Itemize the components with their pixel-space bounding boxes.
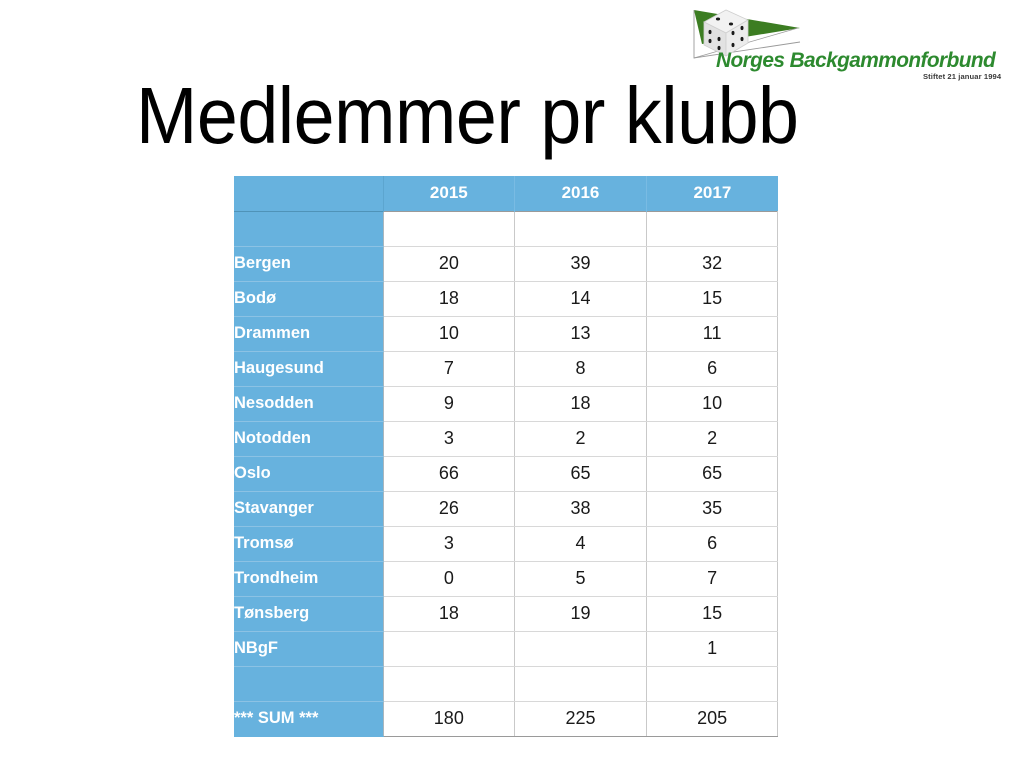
cell-value: 1 [646,631,778,666]
cell-value: 6 [646,351,778,386]
cell-value: 39 [515,246,647,281]
cell-value: 3 [383,421,515,456]
cell-value: 4 [515,526,647,561]
row-label: NBgF [234,631,383,666]
cell-value: 180 [383,701,515,736]
table-row: Notodden322 [234,421,778,456]
table-row: Tønsberg181915 [234,596,778,631]
table-row: Tromsø346 [234,526,778,561]
row-label: Notodden [234,421,383,456]
table-row: Oslo666565 [234,456,778,491]
row-label: Tromsø [234,526,383,561]
table-header: 2015 2016 2017 [234,176,778,211]
column-header-2016: 2016 [515,176,647,211]
cell-value: 10 [646,386,778,421]
row-label: Haugesund [234,351,383,386]
cell-value: 0 [383,561,515,596]
cell-value: 13 [515,316,647,351]
cell-value: 26 [383,491,515,526]
table-row: NBgF1 [234,631,778,666]
cell-value [646,666,778,701]
row-label: Trondheim [234,561,383,596]
cell-value: 3 [383,526,515,561]
cell-value [515,211,647,246]
cell-value: 15 [646,596,778,631]
row-label: Tønsberg [234,596,383,631]
table-header-row: 2015 2016 2017 [234,176,778,211]
table-row: Bergen203932 [234,246,778,281]
cell-value: 7 [383,351,515,386]
table-row: Haugesund786 [234,351,778,386]
cell-value: 14 [515,281,647,316]
cell-value: 20 [383,246,515,281]
table-row: Bodø181415 [234,281,778,316]
cell-value: 35 [646,491,778,526]
cell-value [646,211,778,246]
table-body: Bergen203932Bodø181415Drammen101311Hauge… [234,211,778,736]
cell-value: 65 [515,456,647,491]
column-header-2017: 2017 [646,176,778,211]
row-label [234,666,383,701]
cell-value: 38 [515,491,647,526]
table-row-sum: *** SUM ***180225205 [234,701,778,736]
row-label: Stavanger [234,491,383,526]
cell-value [515,631,647,666]
row-label: Nesodden [234,386,383,421]
cell-value: 6 [646,526,778,561]
table-row: Drammen101311 [234,316,778,351]
row-label [234,211,383,246]
table-row-spacer [234,666,778,701]
cell-value: 18 [383,596,515,631]
cell-value: 9 [383,386,515,421]
row-label: Drammen [234,316,383,351]
row-label: Oslo [234,456,383,491]
cell-value: 11 [646,316,778,351]
cell-value: 5 [515,561,647,596]
cell-value: 65 [646,456,778,491]
table-row-spacer [234,211,778,246]
cell-value [383,211,515,246]
row-label: *** SUM *** [234,701,383,736]
cell-value [383,666,515,701]
cell-value: 15 [646,281,778,316]
row-label: Bodø [234,281,383,316]
table-row: Stavanger263835 [234,491,778,526]
cell-value: 66 [383,456,515,491]
members-per-club-table: 2015 2016 2017 Bergen203932Bodø181415Dra… [234,176,778,737]
cell-value: 2 [515,421,647,456]
column-header-2015: 2015 [383,176,515,211]
cell-value: 18 [383,281,515,316]
cell-value: 18 [515,386,647,421]
cell-value: 2 [646,421,778,456]
cell-value [383,631,515,666]
cell-value: 7 [646,561,778,596]
logo-wordmark: Norges Backgammonforbund [716,48,997,73]
cell-value: 10 [383,316,515,351]
cell-value: 225 [515,701,647,736]
logo-tagline: Stiftet 21 januar 1994 [923,72,1001,81]
cell-value [515,666,647,701]
cell-value: 32 [646,246,778,281]
cell-value: 19 [515,596,647,631]
table-row: Trondheim057 [234,561,778,596]
cell-value: 8 [515,351,647,386]
table-row: Nesodden91810 [234,386,778,421]
column-header-club [234,176,383,211]
cell-value: 205 [646,701,778,736]
row-label: Bergen [234,246,383,281]
page-title: Medlemmer pr klubb [136,74,799,158]
